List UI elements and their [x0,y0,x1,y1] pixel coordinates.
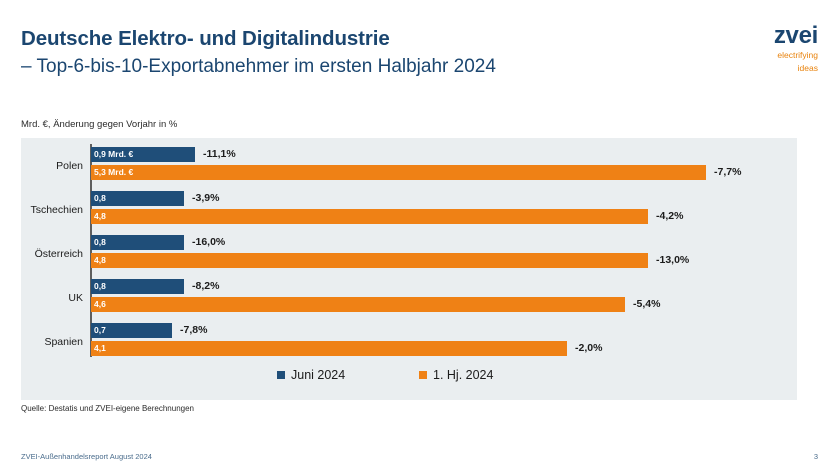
chart-legend: Juni 2024 1. Hj. 2024 [21,362,797,388]
category-label--sterreich: Österreich [21,243,83,265]
bar-change-label: -4,2% [656,209,683,224]
chart-panel: Polen0,9 Mrd. €-11,1%5,3 Mrd. €-7,7%Tsch… [21,138,797,400]
bar-blue[interactable]: 0,7 [91,323,172,338]
bar-group: Spanien0,7-7,8%4,1-2,0% [21,320,797,364]
zvei-logo: zvei electrifying ideas [728,24,818,73]
bar-change-label: -7,8% [180,323,207,338]
category-label-polen: Polen [21,155,83,177]
bar-orange[interactable]: 4,6 [91,297,625,312]
bar-value-label: 4,1 [94,341,106,356]
bar-value-label: 0,8 [94,191,106,206]
category-label-uk: UK [21,287,83,309]
bar-change-label: -7,7% [714,165,741,180]
bar-change-label: -16,0% [192,235,225,250]
legend-item-hj-2024[interactable]: 1. Hj. 2024 [419,362,493,388]
bar-change-label: -2,0% [575,341,602,356]
bar-group: Polen0,9 Mrd. €-11,1%5,3 Mrd. €-7,7% [21,144,797,188]
bar-group: UK0,8-8,2%4,6-5,4% [21,276,797,320]
category-label-spanien: Spanien [21,331,83,353]
bar-chart-plot: Polen0,9 Mrd. €-11,1%5,3 Mrd. €-7,7%Tsch… [21,138,797,358]
legend-label-hj-2024: 1. Hj. 2024 [433,368,493,382]
bar-value-label: 4,8 [94,209,106,224]
bar-orange[interactable]: 4,1 [91,341,567,356]
bar-value-label: 4,8 [94,253,106,268]
logo-tagline-line-2: ideas [728,63,818,74]
bar-value-label: 5,3 Mrd. € [94,165,133,180]
bar-orange[interactable]: 5,3 Mrd. € [91,165,706,180]
slide-header: Deutsche Elektro- und Digitalindustrie –… [21,26,721,79]
bar-blue[interactable]: 0,8 [91,279,184,294]
bar-group: Tschechien0,8-3,9%4,8-4,2% [21,188,797,232]
legend-item-juni-2024[interactable]: Juni 2024 [277,362,345,388]
page-title-line-1: Deutsche Elektro- und Digitalindustrie [21,26,721,51]
bar-change-label: -3,9% [192,191,219,206]
bar-orange[interactable]: 4,8 [91,253,648,268]
page-title-line-2: – Top-6-bis-10-Exportabnehmer im ersten … [21,54,721,79]
logo-tagline-line-1: electrifying [728,50,818,61]
bar-value-label: 0,8 [94,279,106,294]
bar-blue[interactable]: 0,8 [91,235,184,250]
axis-caption: Mrd. €, Änderung gegen Vorjahr in % [21,119,177,130]
bar-orange[interactable]: 4,8 [91,209,648,224]
source-note: Quelle: Destatis und ZVEI-eigene Berechn… [21,404,194,413]
bar-change-label: -13,0% [656,253,689,268]
bar-value-label: 4,6 [94,297,106,312]
logo-wordmark: zvei [728,24,818,48]
bar-group: Österreich0,8-16,0%4,8-13,0% [21,232,797,276]
bar-change-label: -8,2% [192,279,219,294]
bar-change-label: -11,1% [203,147,236,162]
legend-swatch-blue [277,371,285,379]
bar-blue[interactable]: 0,8 [91,191,184,206]
bar-change-label: -5,4% [633,297,660,312]
legend-label-juni-2024: Juni 2024 [291,368,345,382]
bar-value-label: 0,9 Mrd. € [94,147,133,162]
footer-report-name: ZVEI-Außenhandelsreport August 2024 [21,452,152,461]
footer-page-number: 3 [814,452,818,461]
legend-swatch-orange [419,371,427,379]
bar-blue[interactable]: 0,9 Mrd. € [91,147,195,162]
category-label-tschechien: Tschechien [21,199,83,221]
bar-value-label: 0,7 [94,323,106,338]
bar-value-label: 0,8 [94,235,106,250]
